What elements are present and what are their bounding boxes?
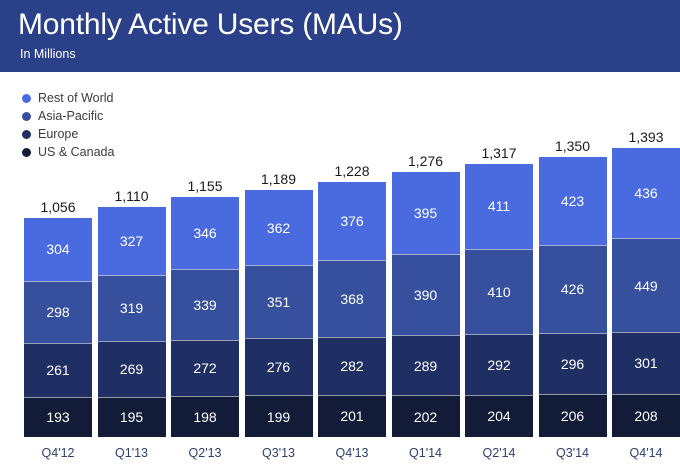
x-axis-label: Q4'14 (612, 446, 680, 460)
bar-segment[interactable]: 362 (245, 190, 313, 265)
chart-subtitle: In Millions (20, 46, 680, 62)
bar-stack: 411410292204 (465, 164, 533, 437)
bar-segment[interactable]: 198 (171, 396, 239, 437)
bar-total-label: 1,189 (245, 171, 313, 187)
x-axis-label: Q3'13 (245, 446, 313, 460)
bar-stack: 395390289202 (392, 172, 460, 437)
bar-segment[interactable]: 289 (392, 335, 460, 395)
bar-segment[interactable]: 410 (465, 249, 533, 334)
bar-segment-value: 199 (267, 409, 290, 425)
bar-segment-value: 201 (340, 408, 363, 424)
x-axis-label: Q4'12 (24, 446, 92, 460)
bar-segment[interactable]: 195 (98, 397, 166, 437)
bar-segment[interactable]: 298 (24, 281, 92, 343)
bar-stack: 436449301208 (612, 148, 680, 437)
chart-plot-area: 1,056304298261193Q4'121,110327319269195Q… (0, 72, 680, 464)
bar-segment[interactable]: 201 (318, 395, 386, 437)
x-axis-label: Q1'14 (392, 446, 460, 460)
x-axis-label: Q1'13 (98, 446, 166, 460)
bar-group[interactable]: 1,276395390289202 (392, 148, 460, 437)
bar-total-label: 1,228 (318, 163, 386, 179)
bar-segment-value: 202 (414, 409, 437, 425)
bar-segment-value: 298 (46, 304, 69, 320)
bar-segment-value: 423 (561, 193, 584, 209)
bar-segment-value: 346 (193, 225, 216, 241)
chart-header-band: Monthly Active Users (MAUs) In Millions (0, 0, 680, 72)
bar-segment[interactable]: 272 (171, 340, 239, 396)
bar-segment-value: 289 (414, 358, 437, 374)
bar-segment[interactable]: 368 (318, 260, 386, 336)
bar-segment-value: 269 (120, 361, 143, 377)
bar-segment[interactable]: 202 (392, 395, 460, 437)
bar-segment-value: 376 (340, 213, 363, 229)
bar-segment[interactable]: 449 (612, 238, 680, 331)
bar-segment[interactable]: 193 (24, 397, 92, 437)
x-axis-label: Q2'14 (465, 446, 533, 460)
bar-group[interactable]: 1,317411410292204 (465, 140, 533, 437)
bar-total-label: 1,317 (465, 145, 533, 161)
bar-segment-value: 195 (120, 409, 143, 425)
bar-segment[interactable]: 292 (465, 334, 533, 395)
bar-segment[interactable]: 339 (171, 269, 239, 339)
bar-segment[interactable]: 208 (612, 394, 680, 437)
bar-group[interactable]: 1,155346339272198 (171, 173, 239, 437)
page-title: Monthly Active Users (MAUs) (18, 6, 680, 44)
x-axis-label: Q3'14 (539, 446, 607, 460)
bar-segment-value: 410 (487, 284, 510, 300)
bar-segment-value: 411 (488, 198, 510, 214)
bar-segment[interactable]: 204 (465, 395, 533, 437)
bar-segment[interactable]: 301 (612, 332, 680, 394)
bar-segment[interactable]: 199 (245, 395, 313, 436)
bar-segment[interactable]: 426 (539, 245, 607, 333)
bar-segment-value: 449 (634, 278, 657, 294)
bar-segment[interactable]: 351 (245, 265, 313, 338)
bar-segment-value: 301 (634, 355, 657, 371)
bar-stack: 362351276199 (245, 190, 313, 437)
bar-segment-value: 282 (340, 358, 363, 374)
bar-segment[interactable]: 206 (539, 394, 607, 437)
bar-total-label: 1,350 (539, 138, 607, 154)
bar-segment-value: 261 (46, 362, 69, 378)
bar-segment-value: 390 (414, 287, 437, 303)
bar-group[interactable]: 1,110327319269195 (98, 183, 166, 437)
bar-group[interactable]: 1,056304298261193 (24, 194, 92, 437)
bar-segment[interactable]: 282 (318, 337, 386, 396)
bar-stack: 346339272198 (171, 197, 239, 437)
bar-segment-value: 292 (487, 357, 510, 373)
bar-segment[interactable]: 327 (98, 207, 166, 275)
bar-group[interactable]: 1,228376368282201 (318, 158, 386, 437)
bar-total-label: 1,276 (392, 153, 460, 169)
bar-segment-value: 206 (561, 408, 584, 424)
bar-segment-value: 327 (120, 233, 143, 249)
bar-segment[interactable]: 395 (392, 172, 460, 254)
bar-segment[interactable]: 436 (612, 148, 680, 238)
bar-segment[interactable]: 319 (98, 275, 166, 341)
bar-segment-value: 395 (414, 205, 437, 221)
bar-segment[interactable]: 269 (98, 341, 166, 397)
bar-stack: 376368282201 (318, 182, 386, 437)
bar-segment[interactable]: 423 (539, 157, 607, 245)
bar-segment[interactable]: 376 (318, 182, 386, 260)
bar-group[interactable]: 1,189362351276199 (245, 166, 313, 437)
bar-segment-value: 436 (634, 185, 657, 201)
bar-group[interactable]: 1,393436449301208 (612, 124, 680, 437)
bar-segment[interactable]: 276 (245, 338, 313, 395)
bar-total-label: 1,056 (24, 199, 92, 215)
bar-segment[interactable]: 390 (392, 254, 460, 335)
bar-segment-value: 362 (267, 220, 290, 236)
bar-segment-value: 426 (561, 281, 584, 297)
bar-segment-value: 204 (487, 408, 510, 424)
bar-segment-value: 276 (267, 359, 290, 375)
bar-segment-value: 208 (634, 408, 657, 424)
bar-segment[interactable]: 411 (465, 164, 533, 249)
x-axis-label: Q2'13 (171, 446, 239, 460)
bar-stack: 423426296206 (539, 157, 607, 437)
bar-total-label: 1,155 (171, 178, 239, 194)
bar-total-label: 1,110 (98, 188, 166, 204)
bar-segment-value: 351 (267, 294, 290, 310)
bar-segment-value: 272 (193, 360, 216, 376)
x-axis-label: Q4'13 (318, 446, 386, 460)
bar-segment-value: 296 (561, 356, 584, 372)
bar-stack: 304298261193 (24, 218, 92, 437)
bar-segment-value: 193 (46, 409, 69, 425)
bar-segment[interactable]: 304 (24, 218, 92, 281)
bar-segment-value: 304 (46, 241, 69, 257)
bar-segment-value: 198 (193, 409, 216, 425)
bar-group[interactable]: 1,350423426296206 (539, 133, 607, 437)
bar-stack: 327319269195 (98, 207, 166, 437)
bar-segment[interactable]: 261 (24, 343, 92, 397)
bar-total-label: 1,393 (612, 129, 680, 145)
bar-segment[interactable]: 346 (171, 197, 239, 269)
bar-segment-value: 319 (120, 300, 143, 316)
bar-segment[interactable]: 296 (539, 333, 607, 394)
bar-segment-value: 339 (193, 297, 216, 313)
bar-segment-value: 368 (340, 291, 363, 307)
